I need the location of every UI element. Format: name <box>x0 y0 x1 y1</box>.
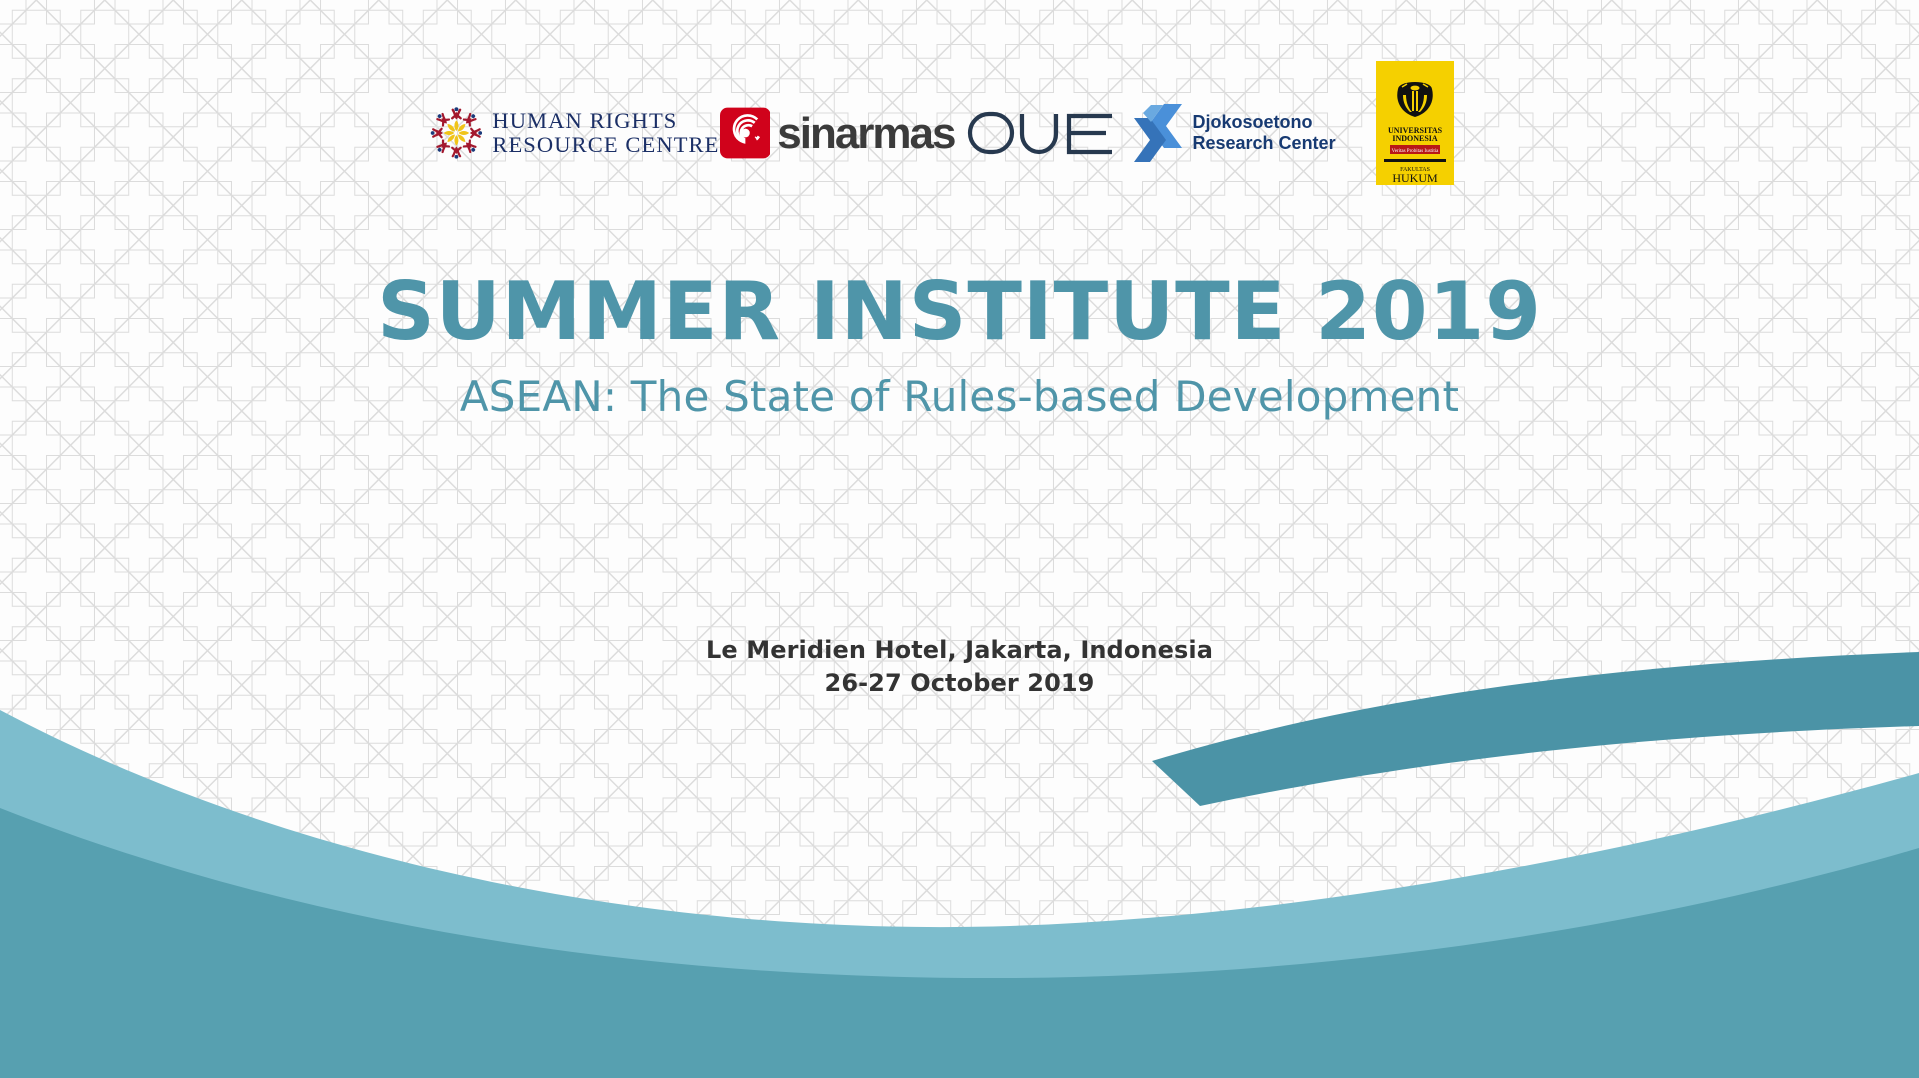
sponsor-logo-strip: HUMAN RIGHTS RESOURCE CENTRE <box>0 72 1919 194</box>
universitas-indonesia-makara-icon: UNIVERSITAS INDONESIA Veritas Probitas I… <box>1376 61 1454 193</box>
logo-djokosoetono-research-center[interactable]: Djokosoetono Research Center <box>1130 83 1340 183</box>
page-title: SUMMER INSTITUTE 2019 <box>0 272 1919 352</box>
title-block: SUMMER INSTITUTE 2019 ASEAN: The State o… <box>0 272 1919 418</box>
djoko-logo-line1: Djokosoetono <box>1193 112 1336 133</box>
logo-oue[interactable]: OUE <box>955 83 1130 183</box>
djoko-logo-line2: Research Center <box>1193 133 1336 154</box>
presentation-title-slide: HUMAN RIGHTS RESOURCE CENTRE <box>0 0 1919 1078</box>
sinarmas-wordmark: sinarmas <box>777 112 954 156</box>
venue-block: Le Meridien Hotel, Jakarta, Indonesia 26… <box>0 634 1919 700</box>
ui-logo-motto: Veritas Probitas Iustitia <box>1391 149 1438 154</box>
logo-human-rights-resource-centre[interactable]: HUMAN RIGHTS RESOURCE CENTRE <box>430 83 720 183</box>
page-subtitle: ASEAN: The State of Rules-based Developm… <box>0 376 1919 418</box>
sinarmas-spiral-icon <box>720 106 771 160</box>
ui-logo-line4: HUKUM <box>1392 171 1438 185</box>
hrrc-logo-line1: HUMAN RIGHTS <box>492 109 719 133</box>
hrrc-mandala-icon <box>430 92 483 174</box>
oue-wordmark-icon: OUE <box>966 108 1118 158</box>
logo-universitas-indonesia-fakultas-hukum[interactable]: UNIVERSITAS INDONESIA Veritas Probitas I… <box>1340 61 1490 206</box>
djokosoetono-ribbon-icon <box>1130 102 1186 164</box>
venue-dates: 26-27 October 2019 <box>0 667 1919 700</box>
venue-location: Le Meridien Hotel, Jakarta, Indonesia <box>0 634 1919 667</box>
ui-logo-line2: INDONESIA <box>1392 134 1438 143</box>
hrrc-logo-line2: RESOURCE CENTRE <box>492 133 719 157</box>
logo-sinarmas[interactable]: sinarmas <box>720 83 955 183</box>
